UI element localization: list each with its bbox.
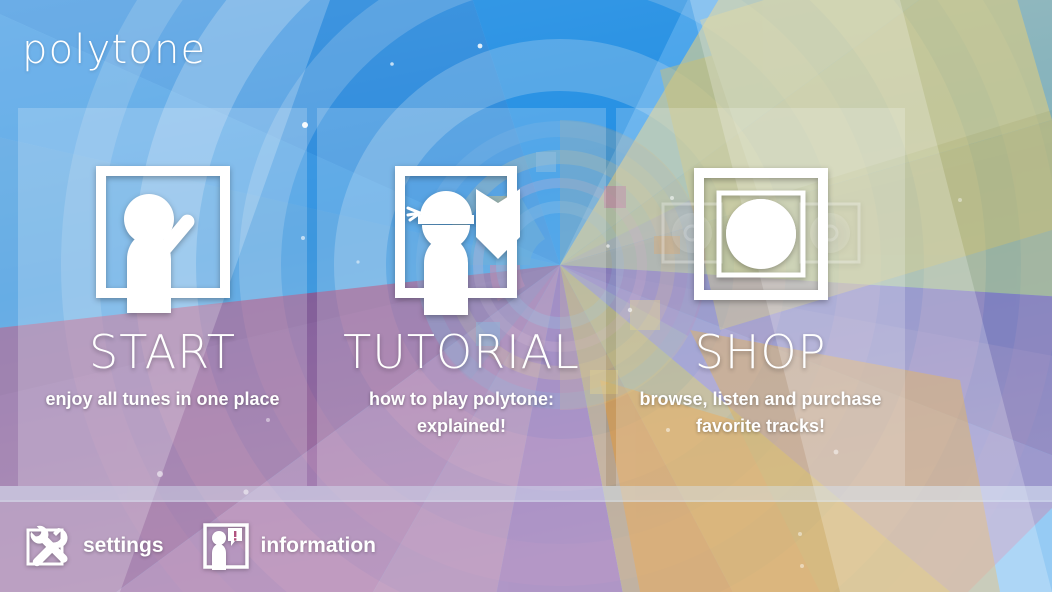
disc-carousel-icon [691, 166, 831, 318]
card-title: TUTORIAL [343, 328, 580, 376]
footer-item-settings[interactable]: settings [22, 520, 164, 572]
app-title: polytone [22, 27, 206, 73]
card-tutorial[interactable]: TUTORIAL how to play polytone: explained… [317, 108, 606, 486]
footer-label: settings [83, 534, 164, 558]
graduate-book-icon [392, 166, 532, 318]
wrench-square-icon [22, 520, 74, 572]
card-description: how to play polytone: explained! [317, 386, 606, 440]
card-start[interactable]: START enjoy all tunes in one place [18, 108, 307, 486]
person-alert-icon [200, 520, 252, 572]
card-shop[interactable]: SHOP browse, listen and purchase favorit… [616, 108, 905, 486]
card-description: enjoy all tunes in one place [37, 386, 287, 413]
app-header: polytone [0, 0, 1052, 100]
footer-item-information[interactable]: information [200, 520, 377, 572]
footer-label: information [261, 534, 377, 558]
card-title: START [89, 328, 236, 376]
card-title: SHOP [695, 328, 827, 376]
presenter-board-icon [93, 166, 233, 318]
card-description: browse, listen and purchase favorite tra… [616, 386, 905, 440]
menu-cards: START enjoy all tunes in one place TUTOR… [18, 108, 906, 486]
footer-bar: settings information [0, 500, 1052, 592]
